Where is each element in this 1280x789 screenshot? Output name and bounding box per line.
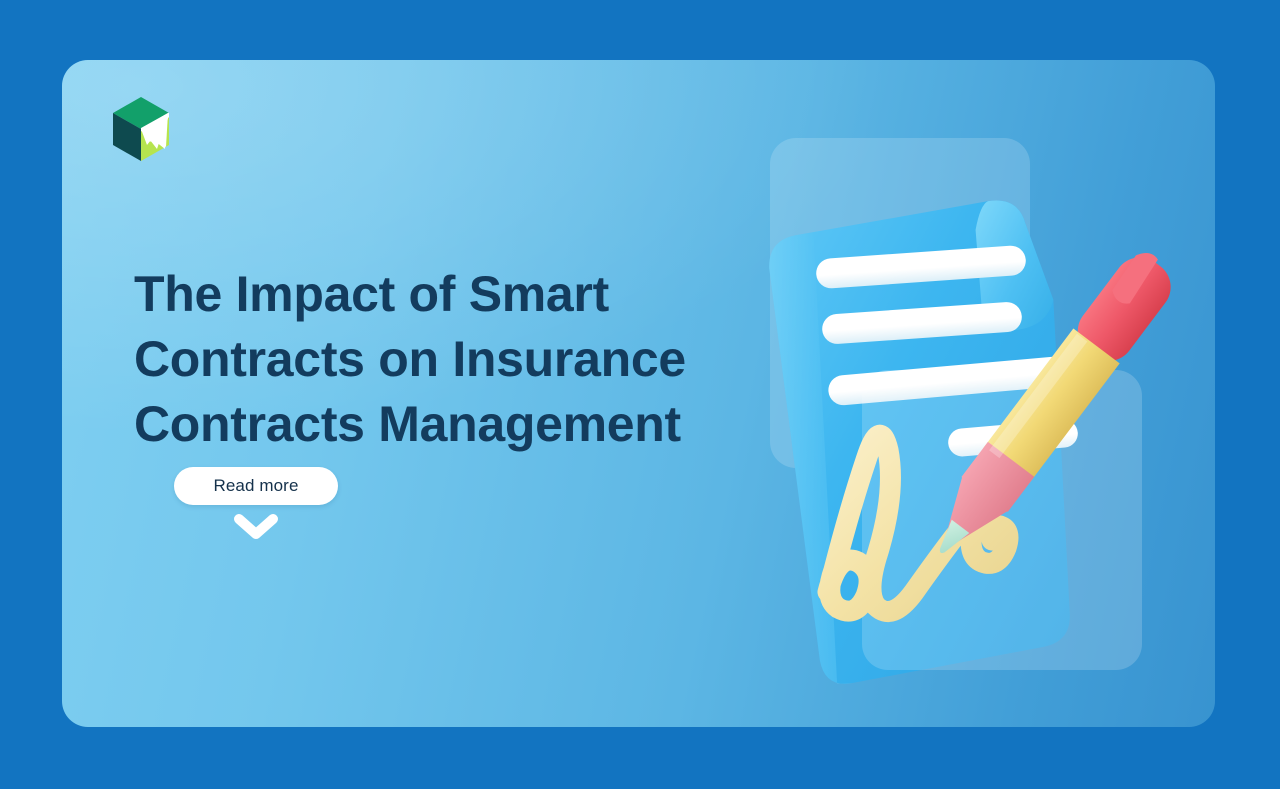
chevron-down-glyph <box>233 513 279 541</box>
hero-banner: The Impact of Smart Contracts on Insuran… <box>0 0 1280 789</box>
page-title: The Impact of Smart Contracts on Insuran… <box>134 262 754 457</box>
hex-cube-logo-icon <box>113 97 169 161</box>
read-more-button[interactable]: Read more <box>174 467 338 505</box>
signed-contract-3d-illustration <box>700 100 1200 700</box>
chevron-down-icon[interactable] <box>233 513 279 541</box>
hex-cube-logo[interactable] <box>113 97 169 161</box>
